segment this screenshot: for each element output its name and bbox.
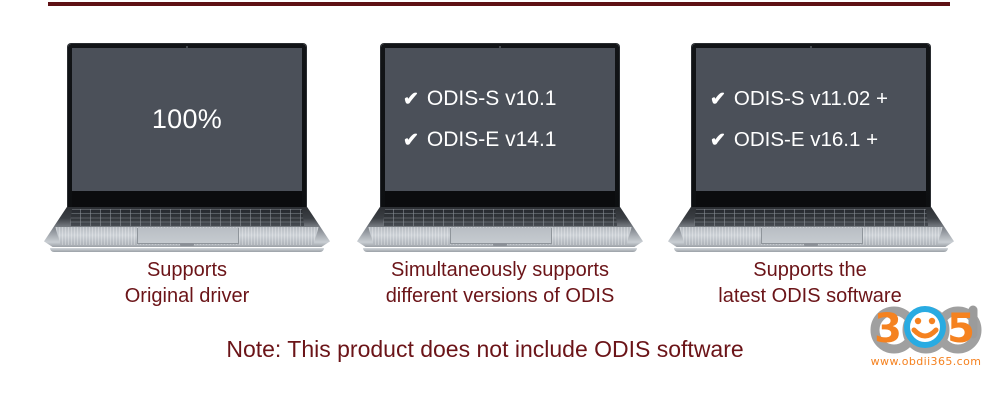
laptop-1-screen: 100% bbox=[72, 48, 302, 191]
laptop-1-base bbox=[44, 207, 330, 252]
laptop-1-screen-text: 100% bbox=[152, 106, 222, 133]
laptop-3-trackpad bbox=[761, 228, 863, 244]
laptop-3-screen-chin bbox=[696, 191, 926, 207]
laptop-2-lid: ✔ ODIS-S v10.1 ✔ ODIS-E v14.1 bbox=[381, 44, 619, 207]
laptop-2-latch bbox=[493, 243, 507, 246]
caption-2-line-2: different versions of ODIS bbox=[335, 284, 665, 310]
laptop-2: ✔ ODIS-S v10.1 ✔ ODIS-E v14.1 bbox=[357, 44, 643, 252]
logo-url-text: www.obdii365.com bbox=[862, 355, 990, 368]
laptop-3-screen-line-1: ✔ ODIS-S v11.02 + bbox=[710, 88, 926, 110]
laptop-2-screen-list: ✔ ODIS-S v10.1 ✔ ODIS-E v14.1 bbox=[385, 88, 615, 151]
laptop-1-screen-chin bbox=[72, 191, 302, 207]
caption-1-line-2: Original driver bbox=[22, 284, 352, 310]
obdii365-logo: 3 5 www.obdii365.com bbox=[862, 300, 990, 382]
caption-3-line-1: Supports the bbox=[645, 258, 975, 284]
laptop-2-deck bbox=[357, 207, 643, 247]
laptop-3: ✔ ODIS-S v11.02 + ✔ ODIS-E v16.1 + bbox=[668, 44, 954, 252]
laptop-3-keyboard bbox=[694, 209, 929, 226]
note-text: Note: This product does not include ODIS… bbox=[0, 337, 1000, 362]
laptop-3-foot bbox=[674, 248, 949, 252]
laptop-1-foot bbox=[50, 248, 325, 252]
caption-1-line-1: Supports bbox=[22, 258, 352, 284]
logo-365-mark: 3 5 bbox=[862, 300, 990, 356]
top-divider-rule bbox=[48, 2, 950, 6]
laptop-1-latch bbox=[180, 243, 194, 246]
laptop-1: 100% bbox=[44, 44, 330, 252]
laptop-2-screen: ✔ ODIS-S v10.1 ✔ ODIS-E v14.1 bbox=[385, 48, 615, 191]
laptop-1-lid: 100% bbox=[68, 44, 306, 207]
laptop-2-base bbox=[357, 207, 643, 252]
svg-text:3: 3 bbox=[874, 306, 902, 352]
caption-1: Supports Original driver bbox=[22, 258, 352, 309]
laptop-3-screen-list: ✔ ODIS-S v11.02 + ✔ ODIS-E v16.1 + bbox=[696, 88, 926, 150]
laptop-3-screen-line-2: ✔ ODIS-E v16.1 + bbox=[710, 129, 926, 151]
laptop-1-trackpad bbox=[137, 228, 239, 244]
check-icon: ✔ bbox=[403, 90, 419, 109]
laptop-2-screen-line-2-text: ODIS-E v14.1 bbox=[427, 129, 557, 151]
check-icon: ✔ bbox=[403, 131, 419, 150]
laptop-2-screen-line-1-text: ODIS-S v10.1 bbox=[427, 88, 557, 110]
laptop-3-screen: ✔ ODIS-S v11.02 + ✔ ODIS-E v16.1 + bbox=[696, 48, 926, 191]
caption-2: Simultaneously supports different versio… bbox=[335, 258, 665, 309]
laptop-2-screen-line-2: ✔ ODIS-E v14.1 bbox=[403, 129, 615, 151]
laptop-3-lid: ✔ ODIS-S v11.02 + ✔ ODIS-E v16.1 + bbox=[692, 44, 930, 207]
laptop-3-deck bbox=[668, 207, 954, 247]
laptop-3-screen-line-1-text: ODIS-S v11.02 + bbox=[734, 88, 888, 110]
laptop-row: 100% ✔ ODIS-S v10.1 bbox=[0, 44, 1000, 254]
laptop-3-screen-line-2-text: ODIS-E v16.1 + bbox=[734, 129, 878, 151]
laptop-2-screen-chin bbox=[385, 191, 615, 207]
laptop-1-keyboard bbox=[70, 209, 305, 226]
laptop-2-trackpad bbox=[450, 228, 552, 244]
svg-text:5: 5 bbox=[947, 306, 975, 352]
laptop-2-screen-line-1: ✔ ODIS-S v10.1 bbox=[403, 88, 615, 110]
check-icon: ✔ bbox=[710, 90, 726, 109]
laptop-3-base bbox=[668, 207, 954, 252]
laptop-2-foot bbox=[363, 248, 638, 252]
check-icon: ✔ bbox=[710, 131, 726, 150]
caption-2-line-1: Simultaneously supports bbox=[335, 258, 665, 284]
caption-row: Supports Original driver Simultaneously … bbox=[0, 258, 1000, 318]
laptop-2-keyboard bbox=[383, 209, 618, 226]
laptop-1-deck bbox=[44, 207, 330, 247]
laptop-3-latch bbox=[804, 243, 818, 246]
